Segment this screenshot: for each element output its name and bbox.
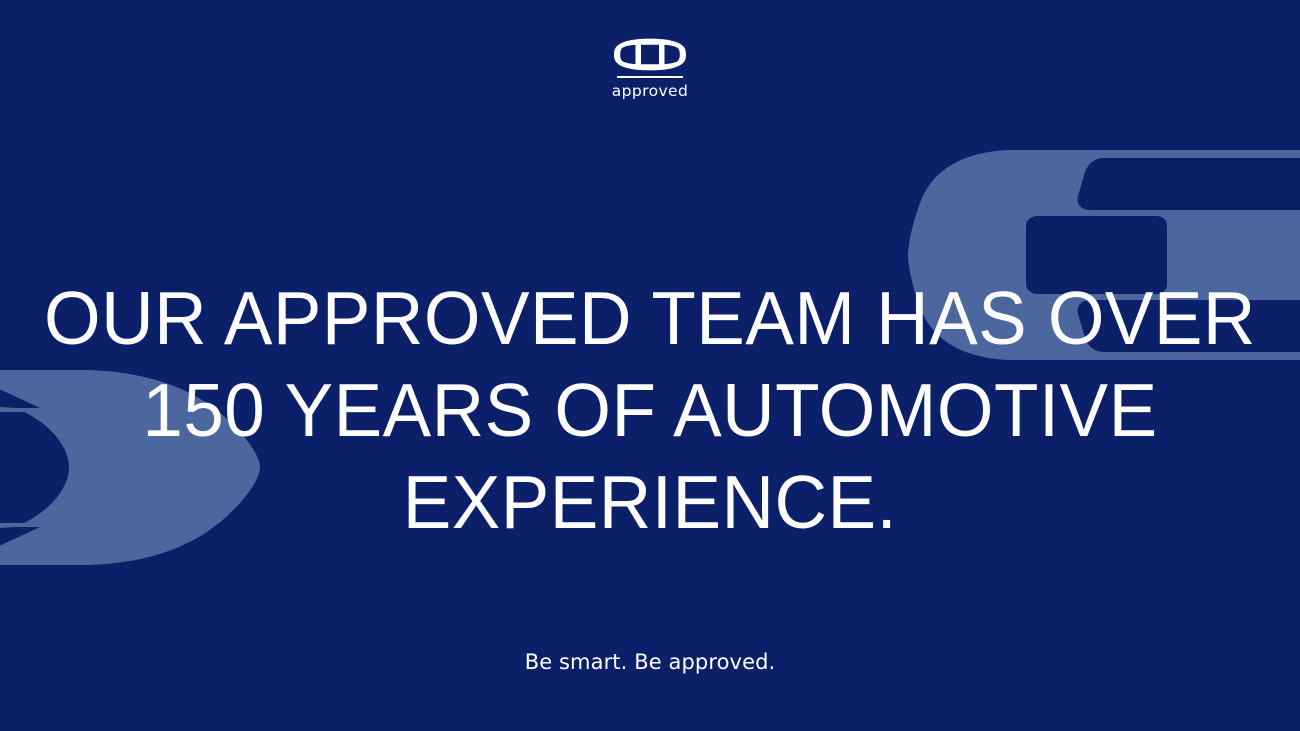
logo-divider: [617, 76, 683, 78]
brand-logo: approved: [0, 38, 1300, 100]
headline: OUR APPROVED TEAM HAS OVER 150 YEARS OF …: [20, 272, 1281, 548]
headline-line-3: EXPERIENCE.: [20, 456, 1281, 548]
car-top-view-icon: [614, 38, 686, 71]
headline-line-1: OUR APPROVED TEAM HAS OVER: [20, 272, 1281, 364]
headline-line-2: 150 YEARS OF AUTOMOTIVE: [20, 364, 1281, 456]
tagline: Be smart. Be approved.: [0, 652, 1300, 673]
logo-wordmark: approved: [612, 84, 688, 100]
promotional-slide: approved OUR APPROVED TEAM HAS OVER 150 …: [0, 0, 1300, 731]
